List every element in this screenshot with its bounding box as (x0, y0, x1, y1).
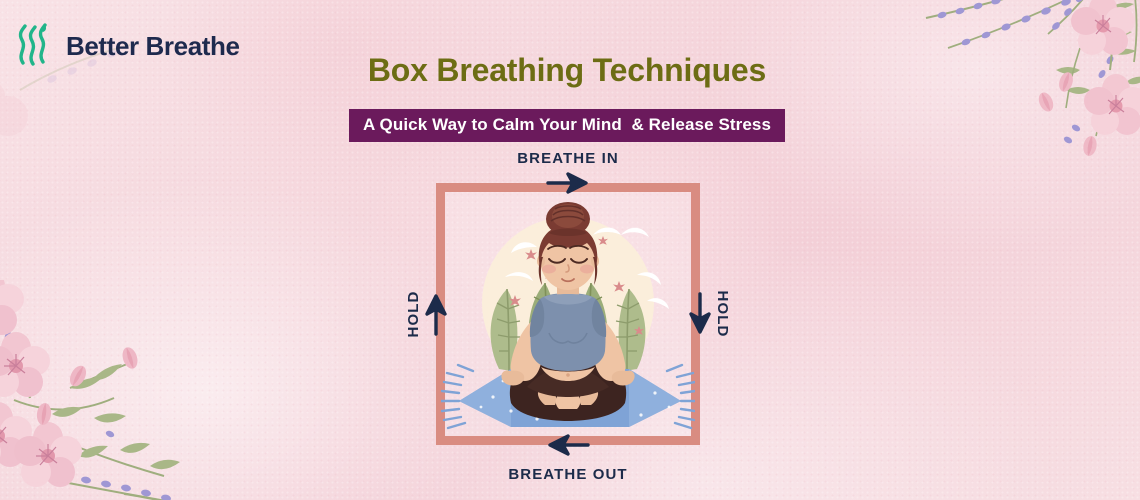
subtitle-banner: A Quick Way to Calm Your Mind & Release … (349, 109, 785, 142)
label-breathe-out: BREATHE OUT (508, 466, 627, 483)
woman-meditating-illustration (441, 191, 695, 437)
label-hold-right: HOLD (714, 291, 731, 338)
page-title: Box Breathing Techniques (0, 52, 1137, 89)
banner: Better Breathe Box Breathing Techniques … (0, 0, 1140, 500)
label-breathe-in: BREATHE IN (517, 150, 619, 167)
label-hold-left: HOLD (405, 291, 422, 338)
arrow-left-icon (546, 434, 590, 456)
subtitle-container: A Quick Way to Calm Your Mind & Release … (0, 109, 1137, 142)
box-breathing-diagram: BREATHE IN BREATHE OUT HOLD HOLD (436, 183, 700, 445)
